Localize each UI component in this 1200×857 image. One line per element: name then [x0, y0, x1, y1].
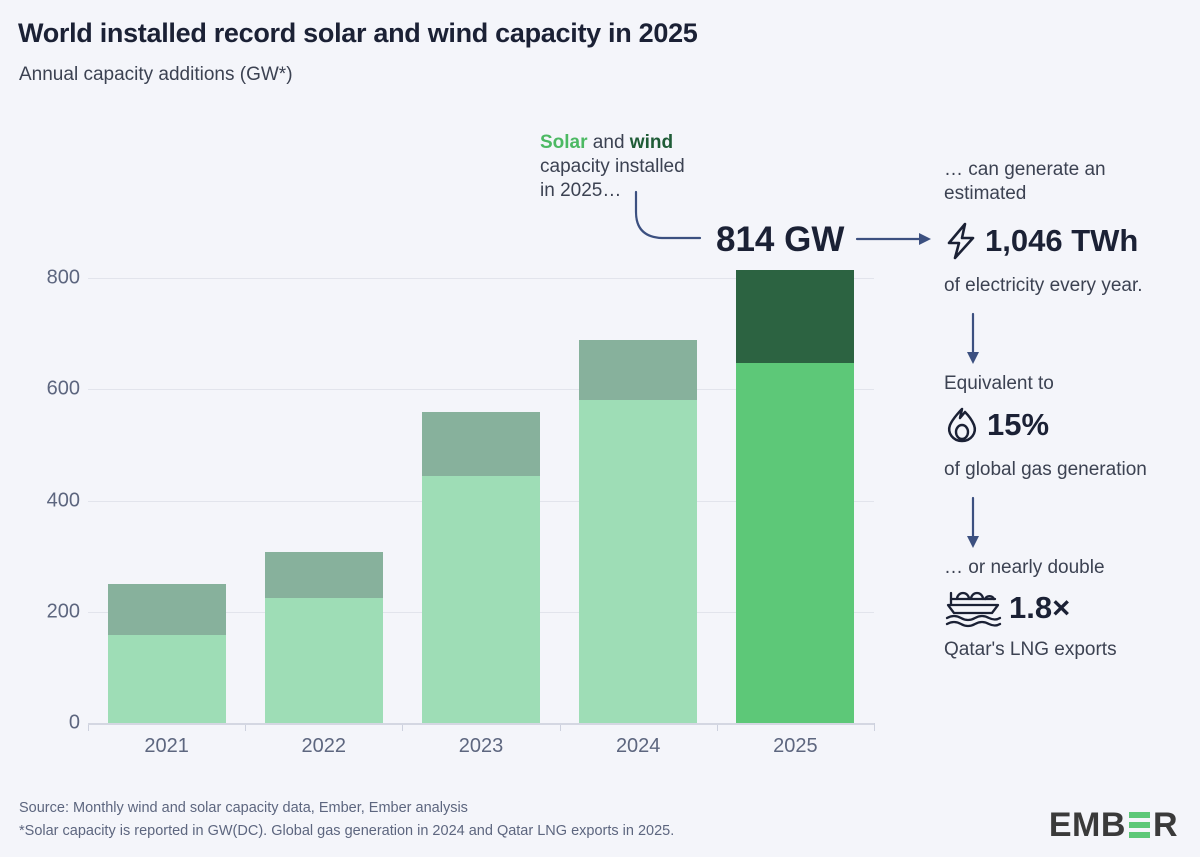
stat-lng-multiple: 1.8×: [944, 588, 1190, 628]
infographic-root: World installed record solar and wind ca…: [0, 0, 1200, 857]
panel-sub-2: of global gas generation: [944, 458, 1190, 482]
footer-note: *Solar capacity is reported in GW(DC). G…: [19, 820, 674, 843]
arrow-right-icon: [855, 228, 937, 250]
callout-curve-connector: [630, 190, 720, 250]
panel-lead-3: … or nearly double: [944, 556, 1190, 580]
bar-2024[interactable]: [579, 340, 697, 723]
axis-baseline: [88, 723, 874, 725]
bar-segment-wind-2021[interactable]: [108, 584, 226, 635]
footer: Source: Monthly wind and solar capacity …: [19, 797, 674, 843]
callout-wind-word: wind: [630, 132, 673, 153]
y-axis-tick-label: 400: [14, 489, 80, 512]
x-axis-tick-label-2023: 2023: [421, 735, 541, 758]
bar-segment-wind-2023[interactable]: [422, 412, 540, 476]
bar-2021[interactable]: [108, 584, 226, 723]
bar-segment-solar-2025[interactable]: [736, 363, 854, 723]
stat-electricity: 1,046 TWh: [944, 222, 1190, 260]
bar-segment-solar-2022[interactable]: [265, 598, 383, 723]
bar-segment-solar-2024[interactable]: [579, 400, 697, 723]
y-axis-tick-label: 200: [14, 600, 80, 623]
y-axis-tick-label: 800: [14, 267, 80, 290]
arrow-down-icon-2: [962, 496, 984, 550]
footer-source: Source: Monthly wind and solar capacity …: [19, 797, 674, 820]
bar-segment-solar-2021[interactable]: [108, 635, 226, 723]
panel-lead-1: … can generate an estimated: [944, 158, 1190, 206]
bar-2025[interactable]: [736, 270, 854, 723]
x-axis-tick-label-2021: 2021: [107, 735, 227, 758]
logo-text-right: R: [1153, 808, 1178, 842]
x-axis-tick-label-2022: 2022: [264, 735, 384, 758]
y-axis-tick-label: 0: [14, 712, 80, 735]
bar-segment-wind-2025[interactable]: [736, 270, 854, 363]
panel-lead-2: Equivalent to: [944, 372, 1190, 396]
callout-line-3: in 2025…: [540, 180, 621, 201]
panel-sub-1: of electricity every year.: [944, 274, 1190, 298]
bar-segment-solar-2023[interactable]: [422, 476, 540, 723]
x-axis-tick-mark: [874, 723, 875, 731]
callout-solar-word: Solar: [540, 132, 588, 153]
bar-segment-wind-2022[interactable]: [265, 552, 383, 598]
bar-2022[interactable]: [265, 552, 383, 723]
bar-chart: 0200400600800 20212022202320242025: [0, 0, 900, 790]
lng-tanker-icon: [944, 588, 1002, 628]
gas-flame-icon: [944, 406, 980, 444]
ember-logo: EMB R: [1049, 808, 1178, 842]
stat-electricity-value: 1,046 TWh: [985, 223, 1138, 259]
bar-2023[interactable]: [422, 412, 540, 723]
bar-segment-wind-2024[interactable]: [579, 340, 697, 400]
callout-line-2: capacity installed: [540, 156, 685, 177]
arrow-down-icon-1: [962, 312, 984, 366]
callout-conjunction: and: [588, 132, 630, 153]
panel-sub-3: Qatar's LNG exports: [944, 638, 1190, 662]
y-axis-tick-label: 600: [14, 378, 80, 401]
stat-gas-share-value: 15%: [987, 407, 1049, 443]
logo-text-left: EMB: [1049, 808, 1126, 842]
stat-gas-share: 15%: [944, 406, 1190, 444]
total-capacity-label: 814 GW: [716, 220, 844, 260]
logo-e-green-bars: [1129, 812, 1150, 838]
stat-lng-multiple-value: 1.8×: [1009, 590, 1070, 626]
x-axis-tick-label-2025: 2025: [735, 735, 855, 758]
lightning-bolt-icon: [944, 222, 978, 260]
x-axis-tick-label-2024: 2024: [578, 735, 698, 758]
side-panel: … can generate an estimated 1,046 TWh of…: [944, 158, 1190, 662]
